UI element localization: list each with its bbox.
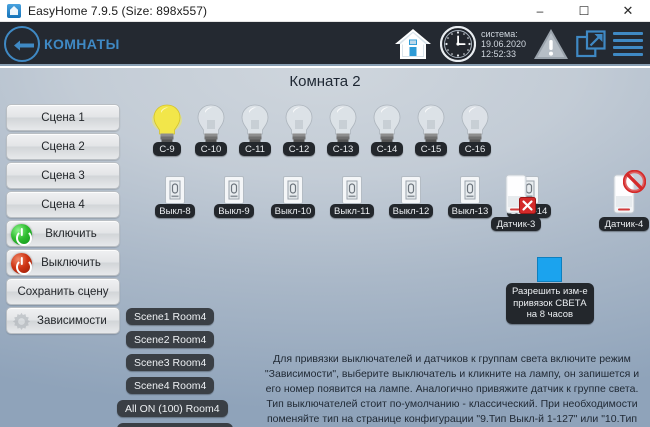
permit-label-line-2: привязок СВЕТА (512, 298, 588, 310)
sidebar-item-dependencies[interactable]: Зависимости (6, 307, 120, 334)
sidebar: Сцена 1 Сцена 2 Сцена 3 Сцена 4 Включить… (6, 104, 120, 336)
gear-icon (12, 312, 31, 331)
lamp-off-icon[interactable] (414, 102, 448, 146)
permit-label-line-3: на 8 часов (512, 309, 588, 321)
scene-tag[interactable]: Scene3 Room4 (126, 354, 214, 371)
red-x-badge-icon (519, 197, 536, 214)
sidebar-item-label: Сцена 1 (41, 112, 85, 124)
switch-label: Выкл-13 (448, 204, 493, 218)
switch-label: Выкл-8 (155, 204, 194, 218)
sensor-item[interactable]: Датчик-4 (595, 174, 650, 231)
page-title: Комната 2 (0, 73, 650, 90)
lamp-item[interactable]: C-9 (148, 102, 186, 156)
hamburger-menu-icon[interactable] (613, 32, 643, 56)
app-icon (7, 4, 21, 18)
help-text: Для привязки выключателей и датчиков к г… (258, 352, 646, 427)
motion-sensor-icon[interactable] (500, 174, 532, 216)
warning-icon[interactable] (533, 28, 569, 60)
lamp-off-icon[interactable] (194, 102, 228, 146)
app-window: EasyHome 7.9.5 (Size: 898x557) – ☐ ✕ КОМ… (0, 0, 650, 427)
lamp-off-icon[interactable] (326, 102, 360, 146)
sidebar-item-label: Зависимости (37, 315, 121, 327)
wall-switch-icon[interactable] (401, 176, 421, 204)
minimize-button[interactable]: – (518, 0, 562, 22)
sensor-item[interactable]: Датчик-3 (487, 174, 545, 231)
back-arrow-icon (13, 40, 35, 51)
lamp-item[interactable]: C-15 (412, 102, 450, 156)
close-button[interactable]: ✕ (606, 0, 650, 22)
sidebar-item-label: Сцена 3 (41, 170, 85, 182)
switch-label: Выкл-10 (271, 204, 316, 218)
lamp-label: C-15 (415, 142, 448, 156)
sensor-label: Датчик-3 (491, 217, 542, 231)
sidebar-item-scene-3[interactable]: Сцена 3 (6, 162, 120, 189)
system-label: система: (481, 29, 526, 39)
sidebar-item-save-scene[interactable]: Сохранить сцену (6, 278, 120, 305)
system-clock-block: система: 19.06.2020 12:52:33 (481, 29, 526, 59)
scene-tag-all-on[interactable]: All ON (100) Room4 (117, 400, 228, 417)
scene-tag[interactable]: Scene2 Room4 (126, 331, 214, 348)
sidebar-item-scene-1[interactable]: Сцена 1 (6, 104, 120, 131)
lamp-off-icon[interactable] (370, 102, 404, 146)
window-title-bar: EasyHome 7.9.5 (Size: 898x557) – ☐ ✕ (0, 0, 650, 22)
lamp-label: C-16 (459, 142, 492, 156)
clock-icon[interactable] (440, 26, 476, 62)
app-header: КОМНАТЫ (0, 22, 650, 66)
lamp-label: C-9 (153, 142, 180, 156)
permit-light-binding-block[interactable]: Разрешить изм-е привязок СВЕТА на 8 часо… (506, 257, 594, 324)
lamp-item[interactable]: C-12 (280, 102, 318, 156)
lamp-item[interactable]: C-11 (236, 102, 274, 156)
lamp-off-icon[interactable] (238, 102, 272, 146)
wall-switch-icon[interactable] (224, 176, 244, 204)
switch-item[interactable]: Выкл-10 (268, 176, 318, 218)
sidebar-item-label: Сохранить сцену (17, 286, 108, 298)
wall-switch-icon[interactable] (460, 176, 480, 204)
sidebar-item-scene-4[interactable]: Сцена 4 (6, 191, 120, 218)
scene-tag-list: Scene1 Room4 Scene2 Room4 Scene3 Room4 S… (126, 308, 233, 427)
window-controls: – ☐ ✕ (518, 0, 650, 22)
switch-label: Выкл-12 (389, 204, 434, 218)
switch-label: Выкл-9 (214, 204, 253, 218)
sidebar-item-scene-2[interactable]: Сцена 2 (6, 133, 120, 160)
sidebar-item-label: Сцена 2 (41, 141, 85, 153)
back-to-rooms-button[interactable]: КОМНАТЫ (4, 26, 120, 62)
permit-label-line-1: Разрешить изм-е (512, 286, 588, 298)
back-button-circle[interactable] (4, 26, 40, 62)
system-date: 19.06.2020 (481, 39, 526, 49)
lamp-row: C-9 C-10 (148, 102, 494, 156)
lamp-on-icon[interactable] (150, 102, 184, 146)
maximize-button[interactable]: ☐ (562, 0, 606, 22)
lamp-off-icon[interactable] (282, 102, 316, 146)
motion-sensor-icon[interactable] (608, 174, 640, 216)
sensor-label: Датчик-4 (599, 217, 650, 231)
lamp-label: C-12 (283, 142, 316, 156)
header-actions: система: 19.06.2020 12:52:33 (393, 24, 646, 64)
lamp-label: C-11 (239, 142, 271, 156)
lamp-off-icon[interactable] (458, 102, 492, 146)
sidebar-item-turn-off[interactable]: Выключить (6, 249, 120, 276)
switch-item[interactable]: Выкл-9 (209, 176, 259, 218)
switch-item[interactable]: Выкл-8 (150, 176, 200, 218)
wall-switch-icon[interactable] (165, 176, 185, 204)
system-time: 12:52:33 (481, 49, 526, 59)
window-title: EasyHome 7.9.5 (Size: 898x557) (28, 4, 207, 18)
lamp-item[interactable]: C-16 (456, 102, 494, 156)
switch-item[interactable]: Выкл-11 (327, 176, 377, 218)
red-ban-badge-icon (623, 170, 646, 193)
wall-switch-icon[interactable] (283, 176, 303, 204)
sidebar-item-label: Включить (37, 228, 119, 240)
switch-label: Выкл-11 (330, 204, 374, 218)
sidebar-item-label: Выключить (37, 257, 119, 269)
permit-color-swatch[interactable] (537, 257, 562, 282)
wall-switch-icon[interactable] (342, 176, 362, 204)
power-on-icon (11, 224, 32, 245)
sidebar-item-turn-on[interactable]: Включить (6, 220, 120, 247)
permit-label: Разрешить изм-е привязок СВЕТА на 8 часо… (506, 283, 594, 324)
exit-icon[interactable] (576, 30, 606, 58)
scene-tag[interactable]: Scene4 Room4 (126, 377, 214, 394)
power-off-icon (11, 253, 32, 274)
lamp-label: C-14 (371, 142, 404, 156)
back-button-label: КОМНАТЫ (44, 36, 120, 52)
sensor-row: Датчик-3 Датчик-4 (487, 174, 650, 231)
switch-item[interactable]: Выкл-12 (386, 176, 436, 218)
lamp-label: C-13 (327, 142, 360, 156)
home-icon[interactable] (393, 27, 433, 61)
scene-tag[interactable]: Scene1 Room4 (126, 308, 214, 325)
sidebar-item-label: Сцена 4 (41, 199, 85, 211)
lamp-item[interactable]: C-14 (368, 102, 406, 156)
main-content: Комната 2 Сцена 1 Сцена 2 Сцена 3 Сцена … (0, 68, 650, 427)
lamp-item[interactable]: C-13 (324, 102, 362, 156)
lamp-label: C-10 (195, 142, 228, 156)
lamp-item[interactable]: C-10 (192, 102, 230, 156)
scene-tag-all-off[interactable]: All OFF (101) Room4 (117, 423, 233, 427)
